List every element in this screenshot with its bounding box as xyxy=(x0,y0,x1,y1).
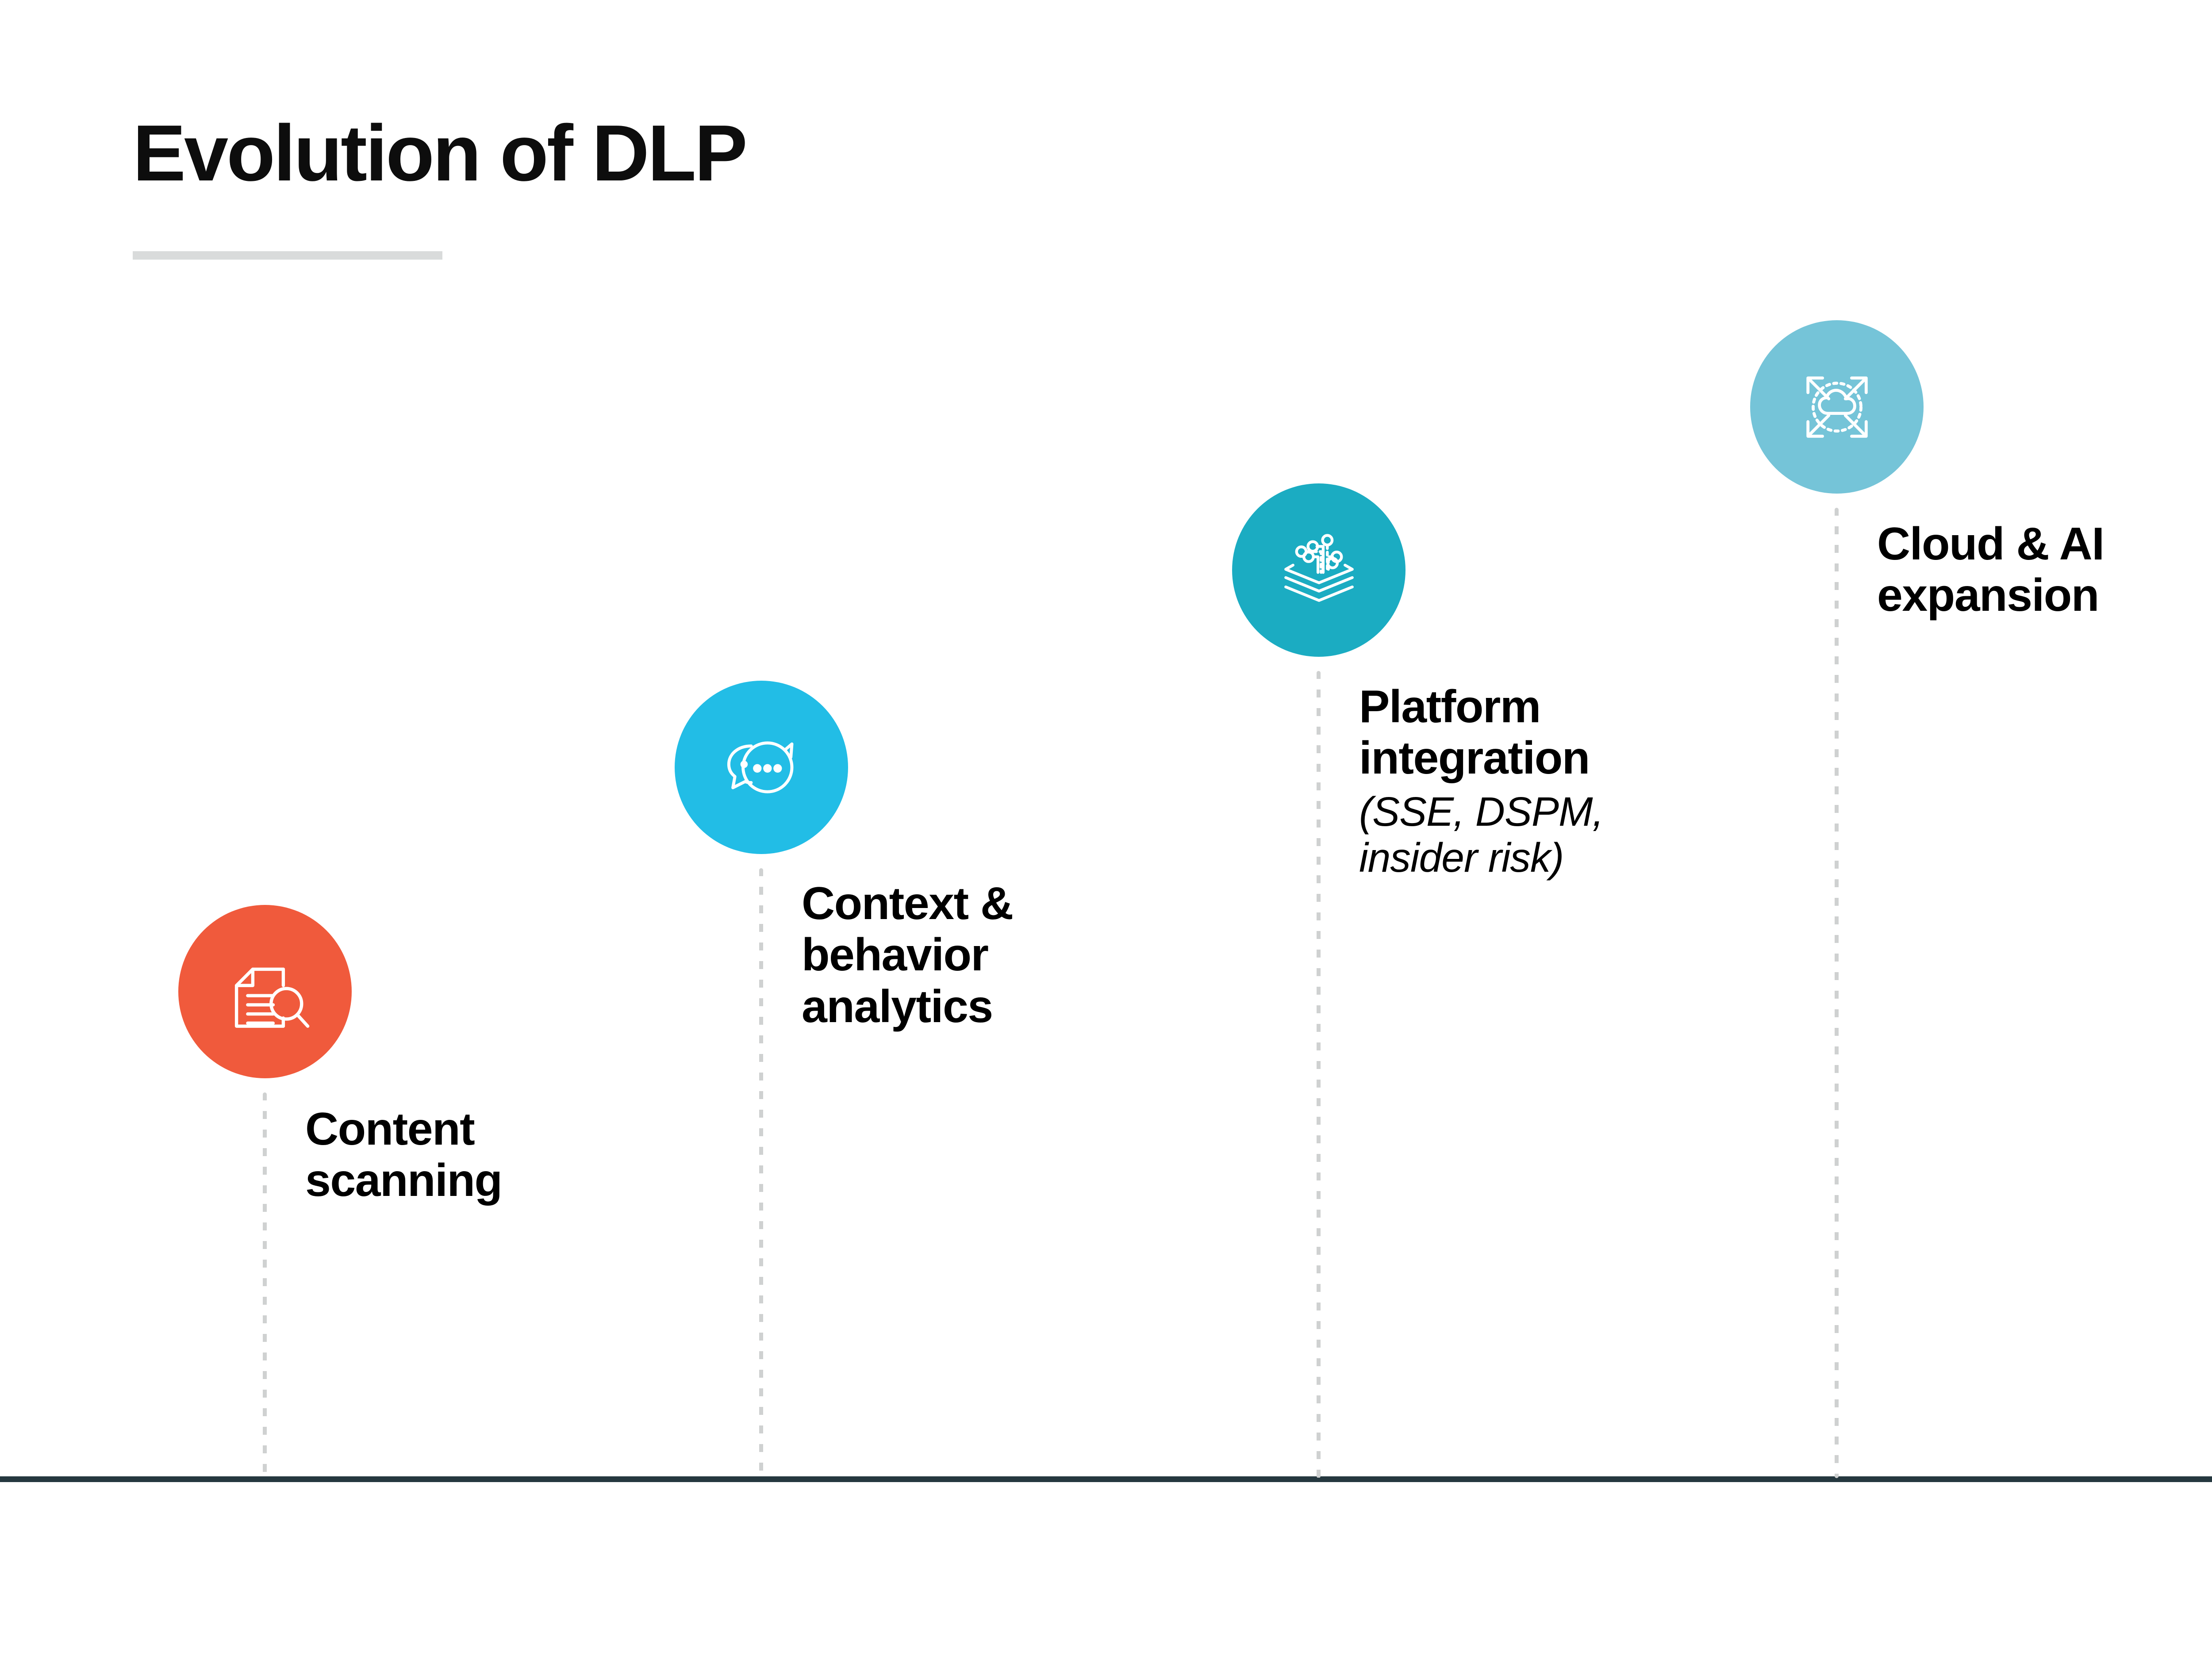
milestone-label-platform-integration: Platform integration (SSE, DSPM, insider… xyxy=(1359,681,1669,881)
title-accent-bar xyxy=(133,251,442,260)
icon-circle-cloud-ai-expansion[interactable] xyxy=(1750,320,1924,494)
connector-line-4 xyxy=(1835,508,1839,1478)
milestone-label-text: Cloud & AI expansion xyxy=(1877,518,2151,621)
milestone-label-cloud-ai-expansion: Cloud & AI expansion xyxy=(1877,518,2151,621)
document-magnifier-icon xyxy=(214,941,316,1042)
connector-line-3 xyxy=(1317,671,1321,1478)
icon-circle-context-behavior-analytics[interactable] xyxy=(675,681,848,854)
connector-line-1 xyxy=(263,1092,267,1478)
layers-network-nodes-icon xyxy=(1267,518,1371,622)
milestone-label-text: Content scanning xyxy=(305,1103,580,1207)
milestone-sublabel-text: (SSE, DSPM, insider risk) xyxy=(1359,789,1669,881)
cloud-expanding-arrows-icon xyxy=(1785,355,1889,459)
milestone-label-content-scanning: Content scanning xyxy=(305,1103,580,1207)
chat-bubbles-dots-icon xyxy=(710,716,812,818)
milestone-label-text: Context & behavior analytics xyxy=(802,878,1076,1032)
milestone-label-context-behavior-analytics: Context & behavior analytics xyxy=(802,878,1076,1032)
page-title: Evolution of DLP xyxy=(133,113,746,194)
icon-circle-content-scanning[interactable] xyxy=(178,905,352,1078)
icon-circle-platform-integration[interactable] xyxy=(1232,483,1406,657)
timeline-baseline xyxy=(0,1476,2212,1482)
connector-line-2 xyxy=(759,868,763,1478)
milestone-label-text: Platform integration xyxy=(1359,681,1669,784)
